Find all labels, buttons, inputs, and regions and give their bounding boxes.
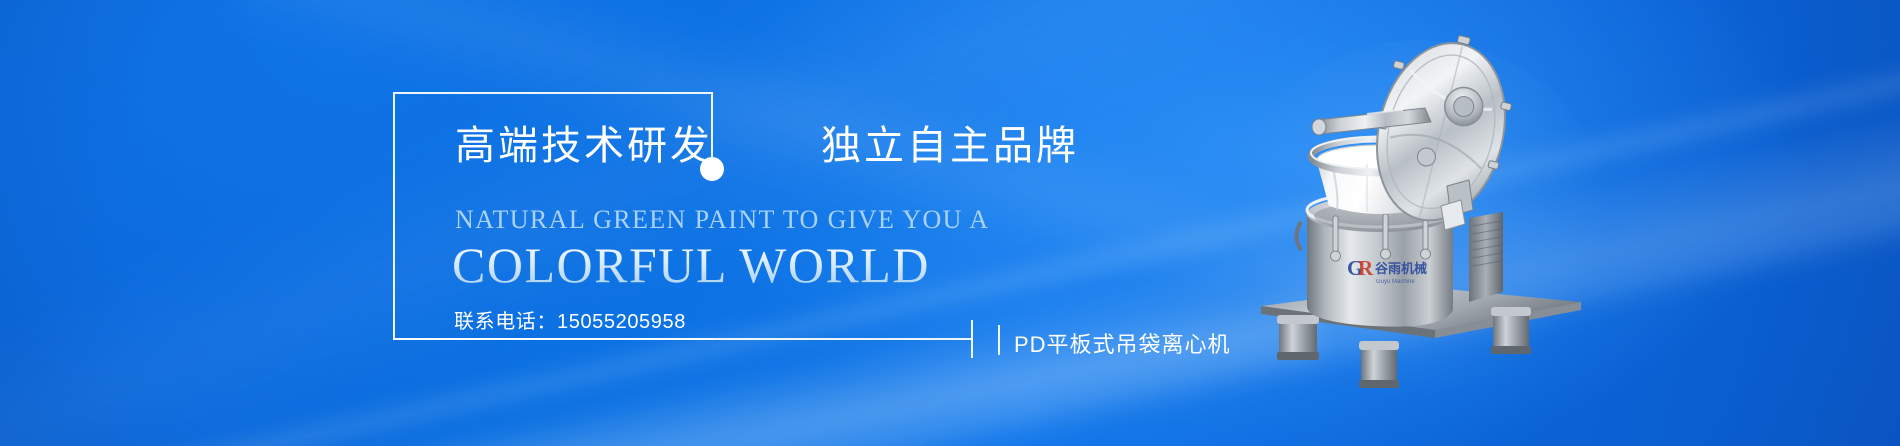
frame-bottom-extension-line [393,338,973,340]
product-image-centrifuge: G R 谷雨机械 Guyu Machine [1255,10,1585,410]
caption-accent-bar [998,325,1000,355]
bigline-english: COLORFUL WORLD [452,236,930,294]
svg-text:谷雨机械: 谷雨机械 [1375,261,1427,277]
headline-right: 独立自主品牌 [821,124,1079,168]
machine-side-handle [1297,222,1302,250]
svg-text:Guyu Machine: Guyu Machine [1376,279,1415,285]
promo-banner: 高端技术研发独立自主品牌 NATURAL GREEN PAINT TO GIVE… [0,0,1900,446]
caption-tick-mark [971,320,973,358]
machine-side-cabinet [1469,212,1503,302]
svg-text:R: R [1358,256,1374,280]
headline: 高端技术研发独立自主品牌 [455,126,1079,166]
product-caption: PD平板式吊袋离心机 [1014,327,1231,359]
contact-phone: 联系电话：15055205958 [454,305,686,334]
subline-english: NATURAL GREEN PAINT TO GIVE YOU A [455,205,989,235]
headline-left: 高端技术研发 [455,124,713,168]
